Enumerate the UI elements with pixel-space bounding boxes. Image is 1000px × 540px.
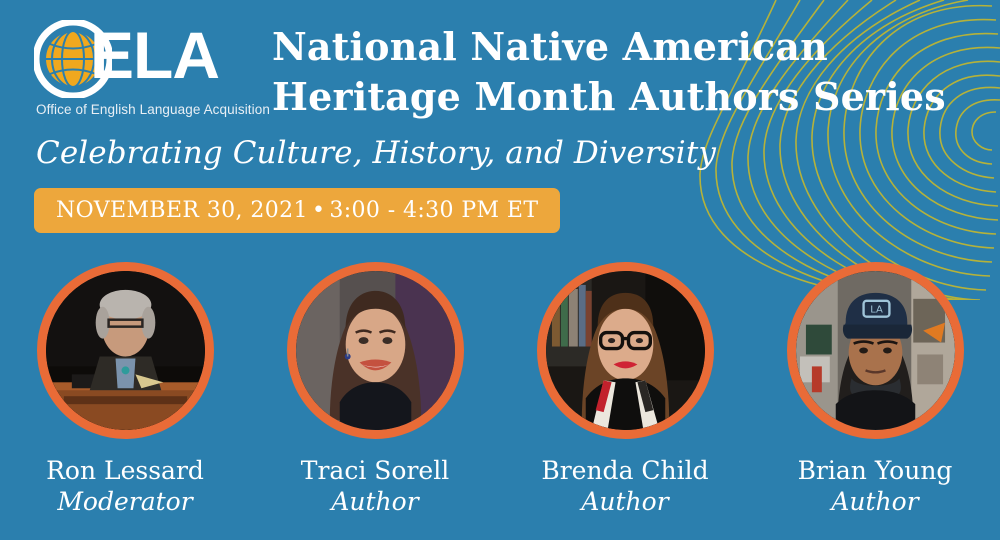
speaker-name: Brenda Child — [508, 455, 743, 486]
bullet-separator-icon: • — [308, 198, 329, 223]
oela-logo: ELA Office of English Language Acquisiti… — [34, 16, 274, 116]
portrait-ron-lessard — [46, 271, 205, 430]
page-subtitle: Celebrating Culture, History, and Divers… — [36, 133, 716, 173]
avatar — [287, 262, 464, 439]
speaker-role: Author — [508, 486, 743, 518]
svg-text:LA: LA — [870, 305, 883, 316]
speaker-role: Moderator — [8, 486, 243, 518]
event-time: 3:00 - 4:30 PM ET — [329, 198, 538, 223]
page-title-line-1: National Native American — [272, 22, 972, 72]
date-time-banner: NOVEMBER 30, 2021 • 3:00 - 4:30 PM ET — [34, 188, 560, 233]
portrait-brian-young: LA — [796, 271, 955, 430]
oela-wordmark: ELA — [90, 18, 219, 92]
speaker-card: Traci Sorell Author — [258, 262, 493, 518]
avatar: LA — [787, 262, 964, 439]
avatar — [537, 262, 714, 439]
speaker-card: Brenda Child Author — [508, 262, 743, 518]
speaker-card: Ron Lessard Moderator — [8, 262, 243, 518]
speaker-role: Author — [758, 486, 993, 518]
speaker-name: Ron Lessard — [8, 455, 243, 486]
oela-logo-subtitle: Office of English Language Acquisition — [36, 102, 270, 117]
page-title: National Native American Heritage Month … — [272, 22, 972, 122]
speaker-name: Traci Sorell — [258, 455, 493, 486]
speaker-name: Brian Young — [758, 455, 993, 486]
speaker-list: Ron Lessard Moderator — [0, 262, 1000, 518]
page-title-line-2: Heritage Month Authors Series — [272, 72, 972, 122]
avatar — [37, 262, 214, 439]
portrait-traci-sorell — [296, 271, 455, 430]
event-date: NOVEMBER 30, 2021 — [56, 198, 308, 223]
portrait-brenda-child — [546, 271, 705, 430]
speaker-card: LA Brian Young Author — [758, 262, 993, 518]
speaker-role: Author — [258, 486, 493, 518]
poster-canvas: ELA Office of English Language Acquisiti… — [0, 0, 1000, 540]
